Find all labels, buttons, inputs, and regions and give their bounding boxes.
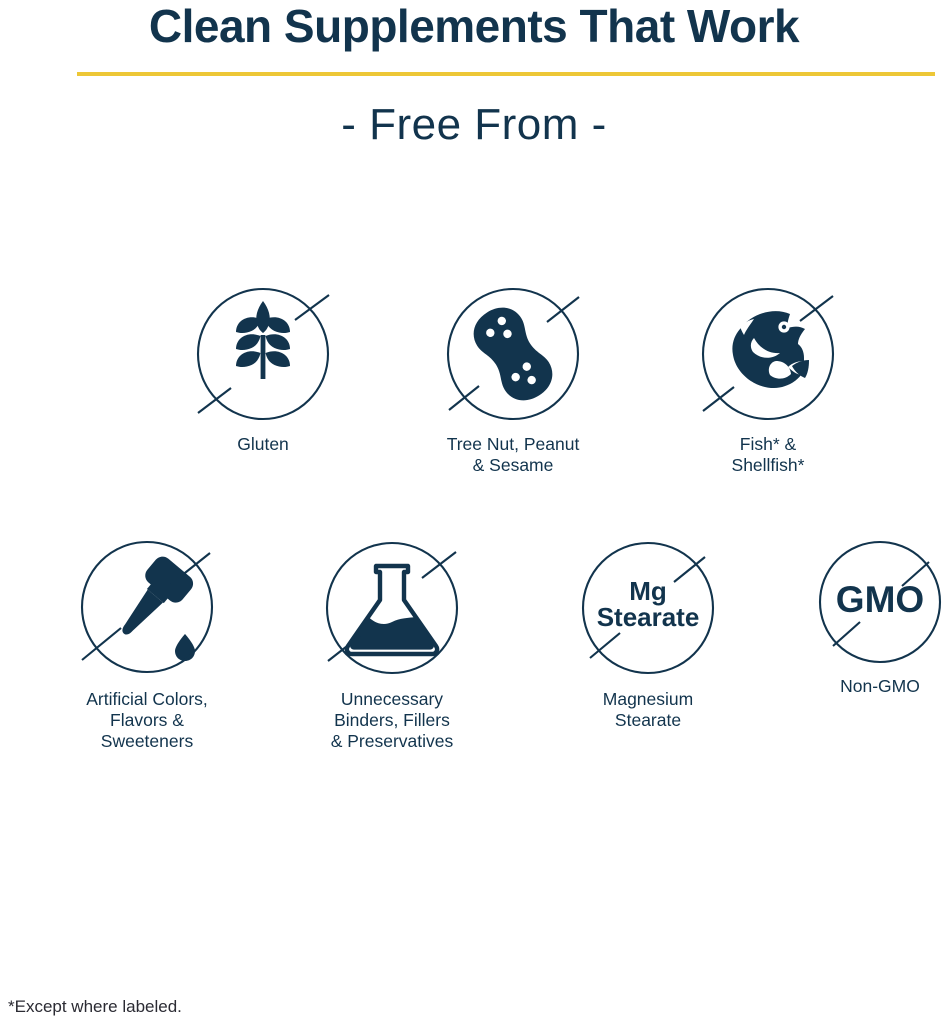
- free-from-item-tree-nut-peanut-sesame: Tree Nut, Peanut & Sesame: [433, 283, 593, 476]
- free-from-icon-row-2: Artificial Colors, Flavors & Sweeteners …: [0, 538, 948, 758]
- free-from-item-non-gmo: GMO Non-GMO: [812, 534, 948, 697]
- free-from-item-label: Fish* & Shellfish*: [688, 434, 848, 476]
- wheat-stalk-icon: [236, 301, 290, 379]
- gluten-badge: [183, 283, 343, 425]
- fish-badge: [688, 283, 848, 425]
- dropper-badge: [67, 538, 227, 680]
- free-from-icon-row-1: Gluten: [0, 283, 948, 483]
- gmo-badge: GMO: [812, 534, 948, 668]
- page-title: Clean Supplements That Work: [0, 0, 948, 52]
- free-from-item-label: Magnesium Stearate: [568, 689, 728, 731]
- badge-text-line-2: Stearate: [597, 602, 700, 632]
- free-from-item-label: Non-GMO: [812, 676, 948, 697]
- free-from-item-label: Gluten: [183, 434, 343, 455]
- mg-stearate-text-icon: Mg Stearate: [597, 576, 700, 632]
- free-from-item-magnesium-stearate: Mg Stearate Magnesium Stearate: [568, 538, 728, 731]
- free-from-item-fish-shellfish: Fish* & Shellfish*: [688, 283, 848, 476]
- header: Clean Supplements That Work - Free From …: [0, 0, 948, 52]
- gmo-text-icon: GMO: [836, 579, 924, 620]
- fish-icon: [732, 311, 809, 388]
- footnote-except-where-labeled: *Except where labeled.: [8, 996, 182, 1018]
- free-from-item-artificial-colors-flavors-sweeteners: Artificial Colors, Flavors & Sweeteners: [67, 538, 227, 752]
- dropper-icon: [106, 553, 197, 661]
- mg-stearate-badge: Mg Stearate: [568, 538, 728, 680]
- free-from-item-label: Tree Nut, Peanut & Sesame: [433, 434, 593, 476]
- flask-badge: [312, 538, 472, 680]
- flask-icon: [347, 566, 437, 654]
- page-subtitle: - Free From -: [0, 96, 948, 154]
- free-from-item-gluten: Gluten: [183, 283, 343, 455]
- peanut-icon: [465, 299, 561, 410]
- free-from-item-label: Unnecessary Binders, Fillers & Preservat…: [312, 689, 472, 752]
- peanut-badge: [433, 283, 593, 425]
- free-from-item-label: Artificial Colors, Flavors & Sweeteners: [67, 689, 227, 752]
- free-from-item-unnecessary-binders-fillers-preservatives: Unnecessary Binders, Fillers & Preservat…: [312, 538, 472, 752]
- badge-text-line-1: GMO: [836, 579, 924, 620]
- title-divider-rule: [77, 72, 935, 76]
